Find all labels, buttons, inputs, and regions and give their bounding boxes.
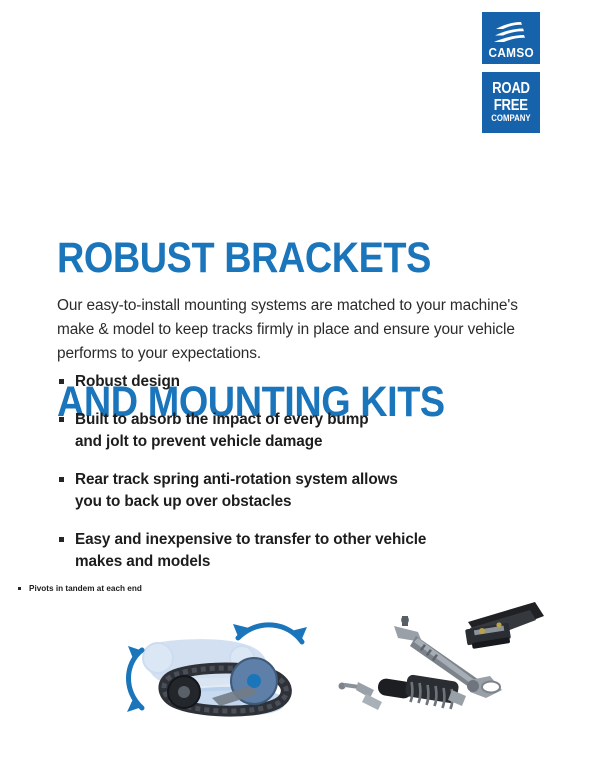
feature-text-line-1: Robust design [75, 373, 180, 390]
brochure-page: CAMSO ROAD FREE COMPANY ROBUST BRACKETS … [0, 0, 600, 767]
camso-logo-badge: CAMSO [482, 12, 540, 64]
product-imagery [0, 598, 600, 738]
feature-list: Robust design Built to absorb the impact… [57, 371, 527, 589]
mounting-bracket-part [465, 602, 544, 649]
road-free-line-3: COMPANY [491, 114, 530, 124]
mounting-hardware-photo [330, 598, 545, 730]
footnote-text: Pivots in tandem at each end [18, 583, 142, 595]
rubber-track-system-illustration [112, 606, 322, 734]
intro-paragraph: Our easy-to-install mounting systems are… [57, 294, 527, 366]
road-free-line-1: ROAD [492, 81, 530, 97]
feature-text-line-2: makes and models [75, 551, 527, 573]
camso-track-mark-icon [491, 20, 531, 44]
page-title-line-1: ROBUST BRACKETS [57, 234, 445, 282]
pivot-arrow-top-icon [233, 624, 307, 642]
list-item: Rear track spring anti-rotation system a… [57, 469, 527, 513]
brand-logo-stack: CAMSO ROAD FREE COMPANY [482, 12, 540, 133]
road-free-company-badge: ROAD FREE COMPANY [482, 72, 540, 133]
idler-wheel-hub [178, 686, 190, 698]
feature-text-line-1: Easy and inexpensive to transfer to othe… [75, 531, 426, 548]
list-item: Robust design [57, 371, 527, 393]
feature-text-line-1: Built to absorb the impact of every bump [75, 411, 368, 428]
list-item: Easy and inexpensive to transfer to othe… [57, 529, 527, 573]
pivot-arrow-left-icon [127, 646, 143, 712]
coil-spring-damper-part [339, 674, 467, 710]
road-free-line-2: FREE [494, 98, 528, 114]
camso-wordmark: CAMSO [488, 47, 534, 60]
drive-sprocket-hub [247, 674, 261, 688]
list-item: Built to absorb the impact of every bump… [57, 409, 527, 453]
spring-coils [405, 674, 460, 709]
feature-text-line-2: you to back up over obstacles [75, 491, 527, 513]
feature-text-line-1: Rear track spring anti-rotation system a… [75, 471, 398, 488]
feature-text-line-2: and jolt to prevent vehicle damage [75, 431, 527, 453]
